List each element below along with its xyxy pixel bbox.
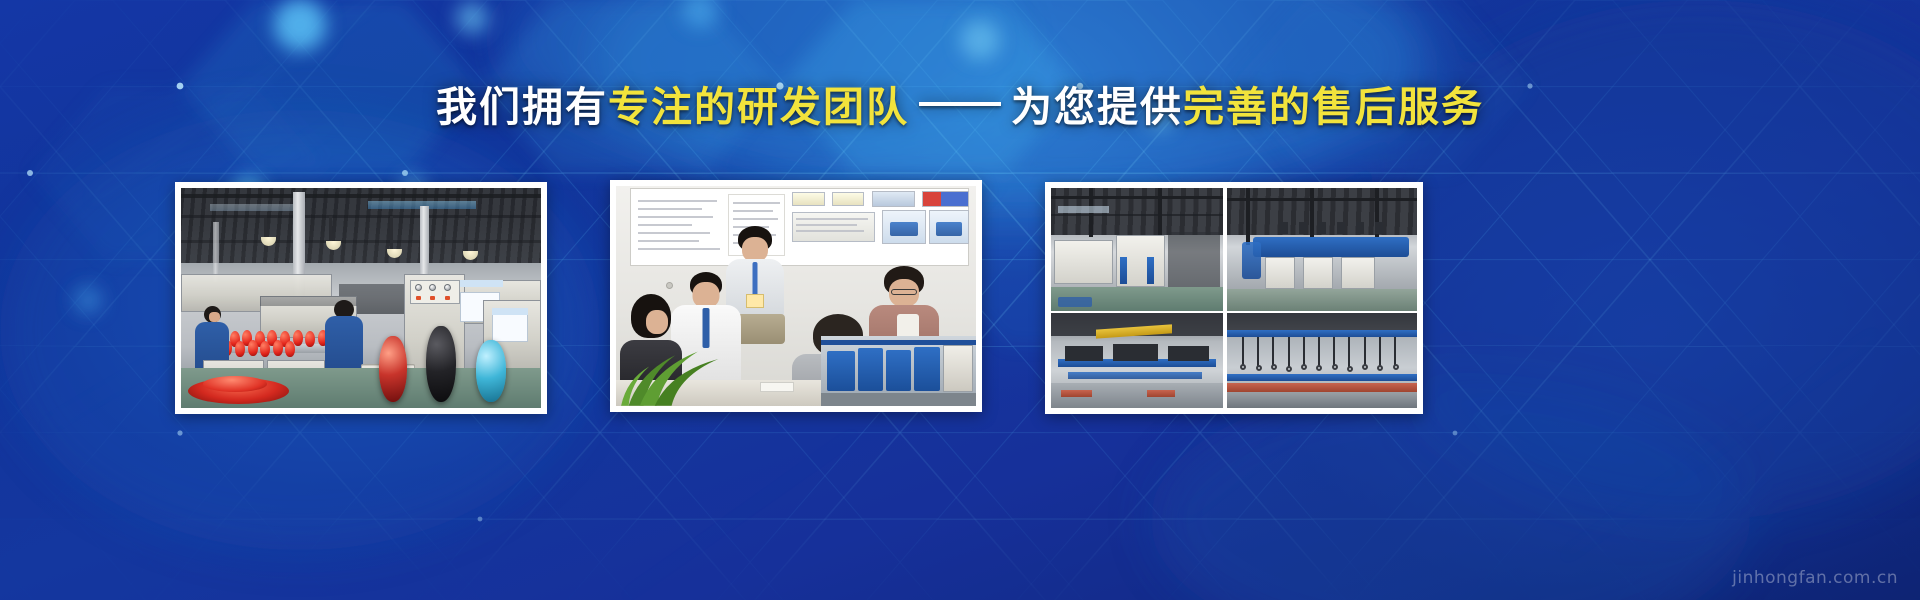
headline-separator: ——	[909, 78, 1011, 124]
photo-frame-workshop-collage[interactable]	[1045, 182, 1423, 414]
collage-cell-bottom-left	[1051, 313, 1223, 408]
collage-cell-top-right	[1227, 188, 1417, 311]
banner-headline: 我们拥有专注的研发团队——为您提供完善的售后服务	[0, 80, 1920, 134]
headline-segment-white-2: 为您提供	[1011, 84, 1183, 130]
photo-team-meeting	[616, 186, 976, 406]
foreground-plant	[616, 331, 738, 406]
collage-cell-bottom-right	[1227, 313, 1417, 408]
vase-red	[379, 336, 407, 402]
headline-segment-yellow-2: 完善的售后服务	[1183, 84, 1484, 130]
photo-workshop-collage	[1051, 188, 1417, 408]
photo-frame-team-meeting[interactable]	[610, 180, 982, 412]
collage-cell-top-left	[1051, 188, 1223, 311]
headline-segment-white-1: 我们拥有	[436, 84, 608, 130]
photo-factory-production-line	[181, 188, 541, 408]
photo-frame-factory-production-line[interactable]	[175, 182, 547, 414]
promo-banner: 我们拥有专注的研发团队——为您提供完善的售后服务	[0, 0, 1920, 600]
headline-segment-yellow-1: 专注的研发团队	[608, 84, 909, 130]
vase-black	[426, 326, 456, 402]
site-watermark: jinhongfan.com.cn	[1732, 568, 1898, 588]
vase-cyan	[476, 340, 506, 402]
